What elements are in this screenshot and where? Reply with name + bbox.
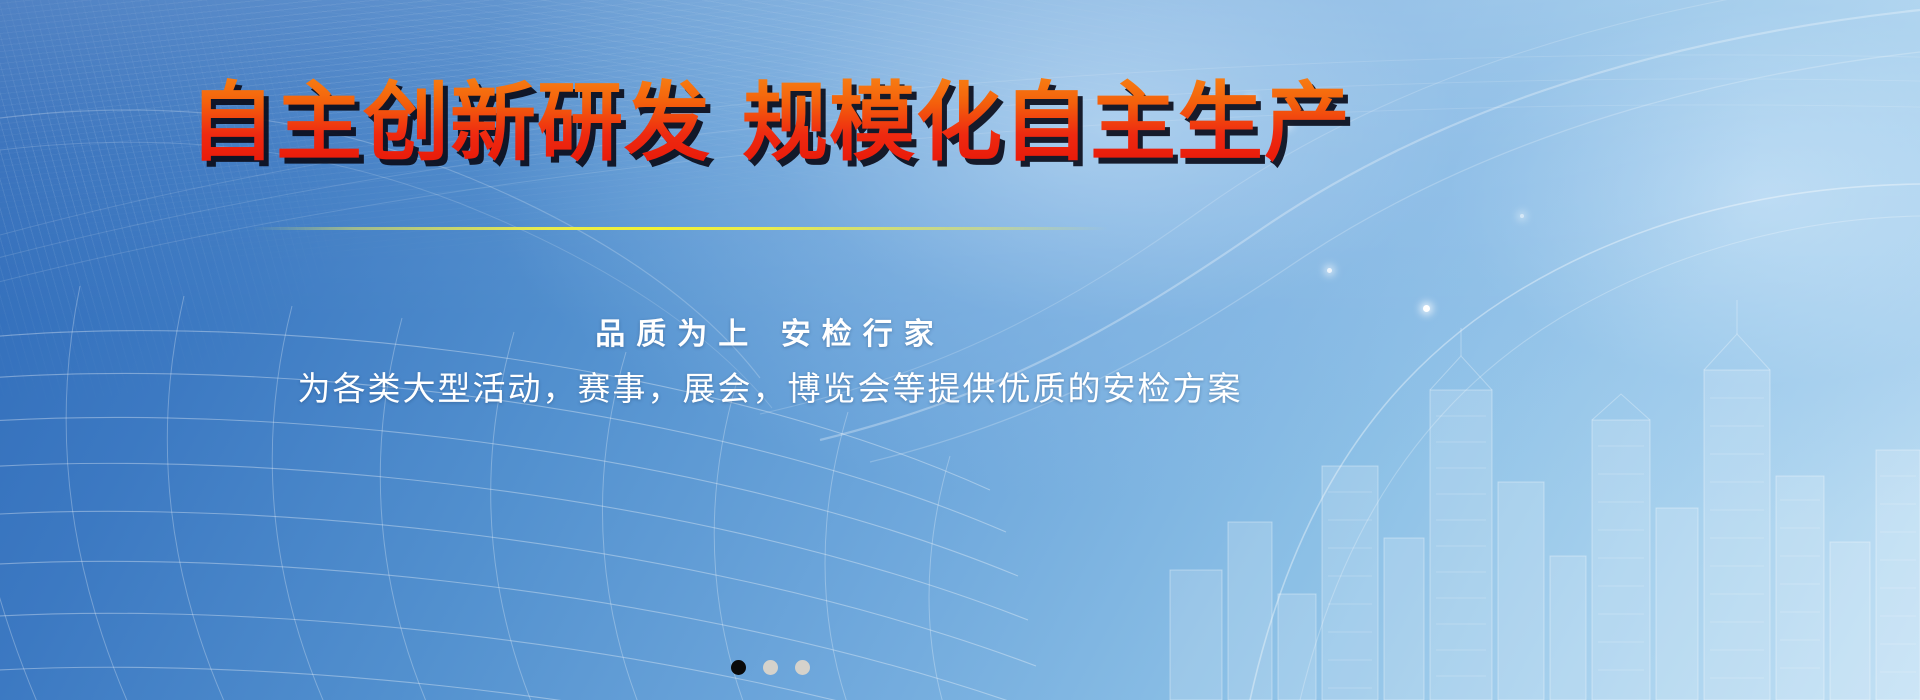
banner-content: 自主创新研发 规模化自主生产 品质为上 安检行家 为各类大型活动，赛事，展会，博… [0,0,1920,700]
headline-divider [252,227,1108,230]
hero-banner: 自主创新研发 规模化自主生产 品质为上 安检行家 为各类大型活动，赛事，展会，博… [0,0,1920,700]
carousel-dot-2[interactable] [763,660,778,675]
banner-subtitle-secondary: 为各类大型活动，赛事，展会，博览会等提供优质的安检方案 [0,362,1540,410]
carousel-dot-1[interactable] [731,660,746,675]
banner-headline: 自主创新研发 规模化自主生产 [0,78,1540,169]
banner-subtitle-primary: 品质为上 安检行家 [0,309,1540,353]
carousel-dot-3[interactable] [795,660,810,675]
carousel-indicators[interactable] [0,660,1540,675]
